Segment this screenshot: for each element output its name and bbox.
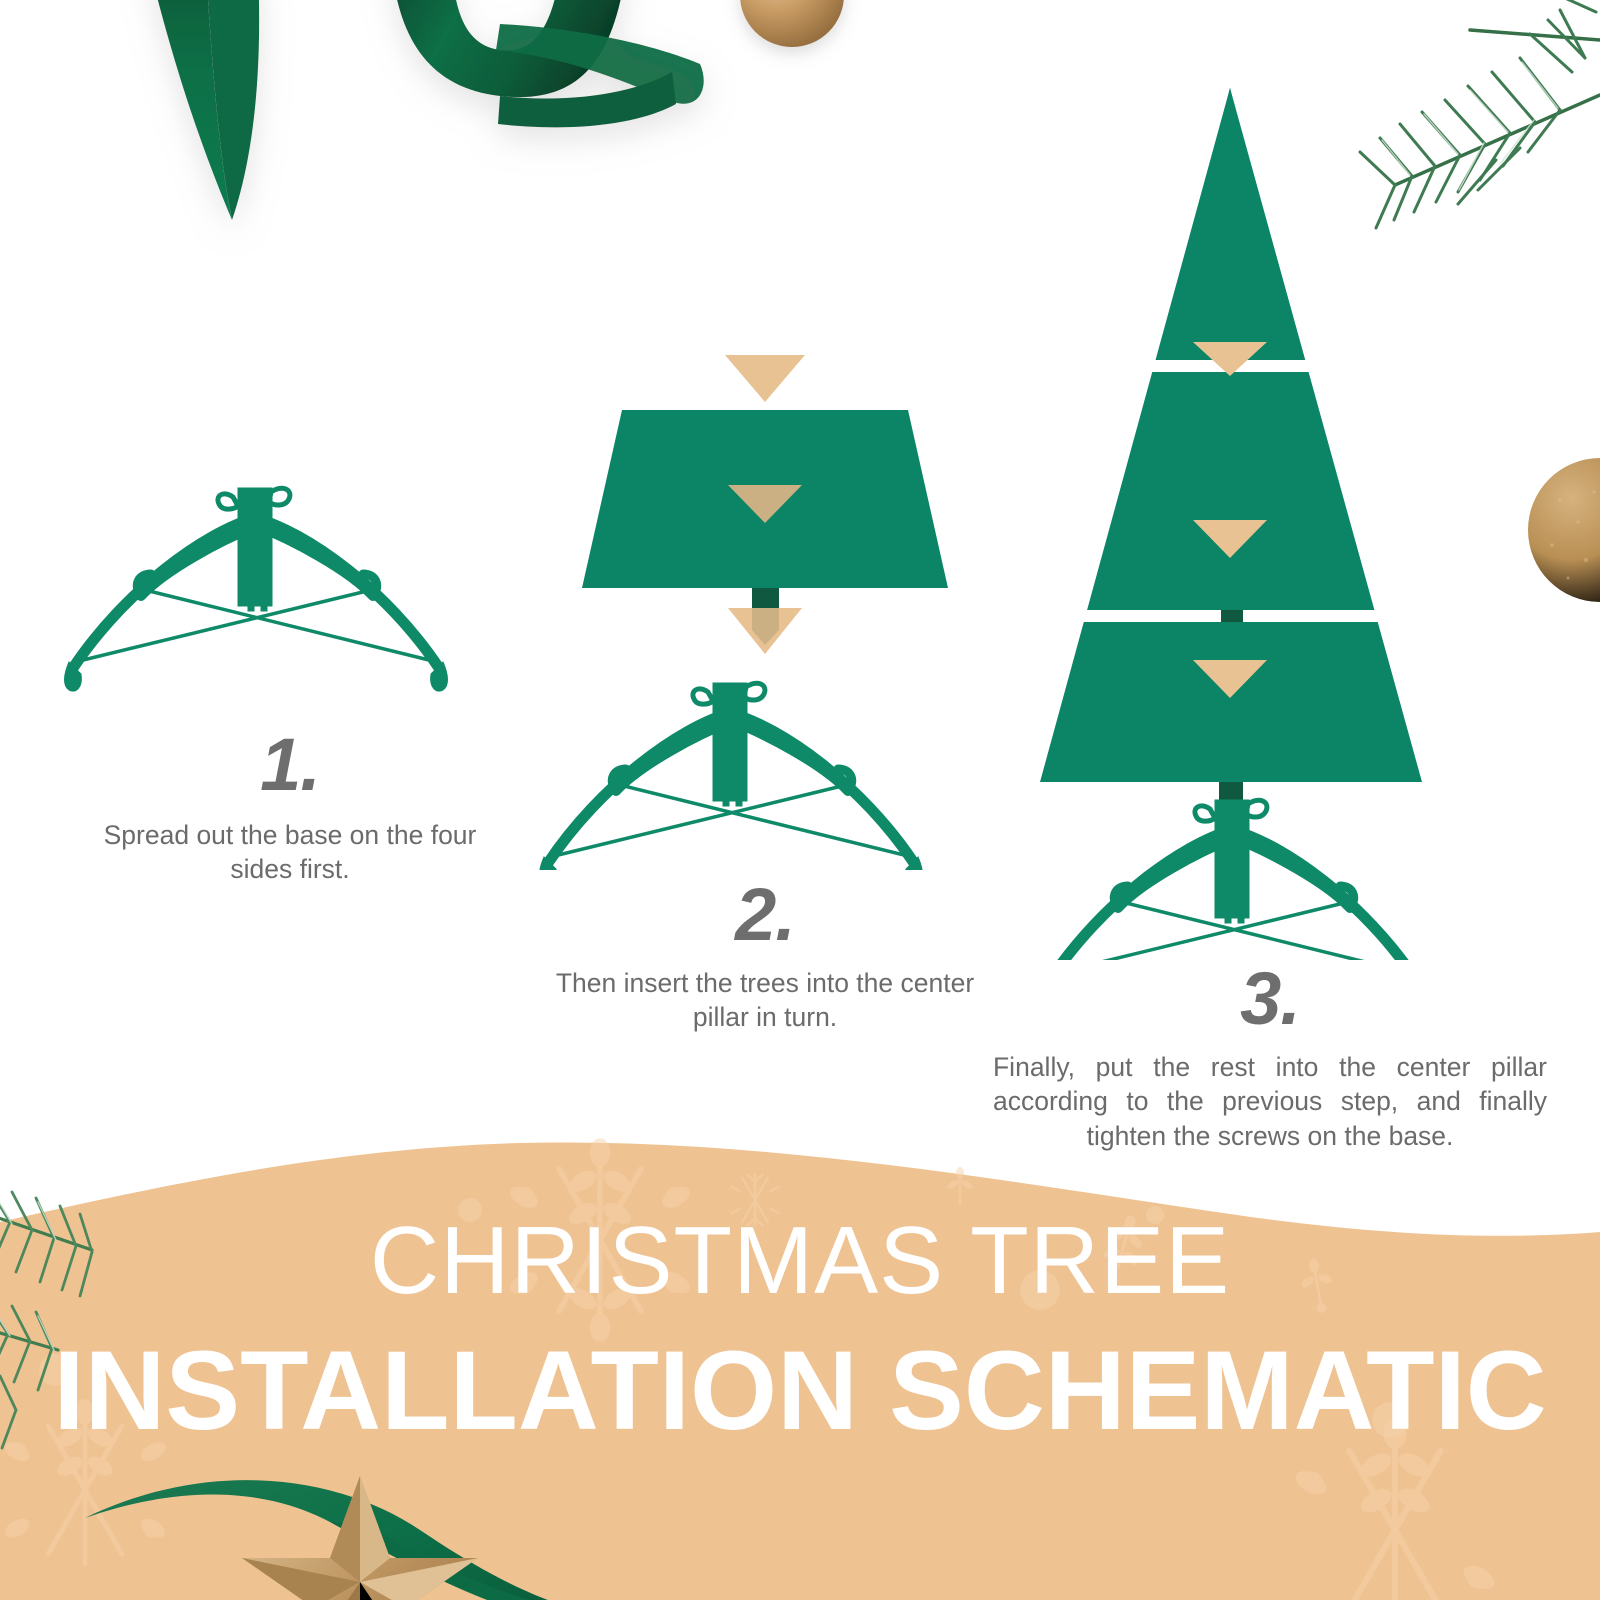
insert-arrow-bottom-icon bbox=[728, 608, 802, 654]
tree-stand-icon bbox=[65, 488, 448, 691]
tree-stand-icon bbox=[1042, 800, 1425, 960]
step-2-caption: Then insert the trees into the center pi… bbox=[500, 966, 1030, 1035]
banner-title: CHRISTMAS TREE INSTALLATION SCHEMATIC bbox=[0, 1212, 1600, 1451]
step-1: 1. Spread out the base on the four sides… bbox=[35, 470, 545, 887]
steps-container: 1. Spread out the base on the four sides… bbox=[0, 0, 1600, 1180]
step-2: 2. Then insert the trees into the center… bbox=[500, 330, 1030, 1035]
step-3-illustration bbox=[985, 70, 1555, 960]
center-pillar-joint bbox=[1221, 610, 1243, 622]
step-1-caption: Spread out the base on the four sides fi… bbox=[35, 818, 545, 887]
step-1-illustration bbox=[35, 470, 545, 710]
tree-stand-icon bbox=[540, 683, 923, 870]
step-3: 3. Finally, put the rest into the center… bbox=[985, 70, 1555, 1153]
step-3-number: 3. bbox=[985, 962, 1555, 1036]
bottom-banner: CHRISTMAS TREE INSTALLATION SCHEMATIC bbox=[0, 1120, 1600, 1600]
insert-arrow-top-icon bbox=[725, 355, 805, 402]
title-line-2: INSTALLATION SCHEMATIC bbox=[0, 1332, 1600, 1451]
title-line-1: CHRISTMAS TREE bbox=[0, 1212, 1600, 1310]
step-2-illustration bbox=[500, 330, 1030, 870]
step-2-number: 2. bbox=[500, 878, 1030, 952]
step-1-number: 1. bbox=[35, 728, 545, 802]
infographic-canvas: 1. Spread out the base on the four sides… bbox=[0, 0, 1600, 1600]
